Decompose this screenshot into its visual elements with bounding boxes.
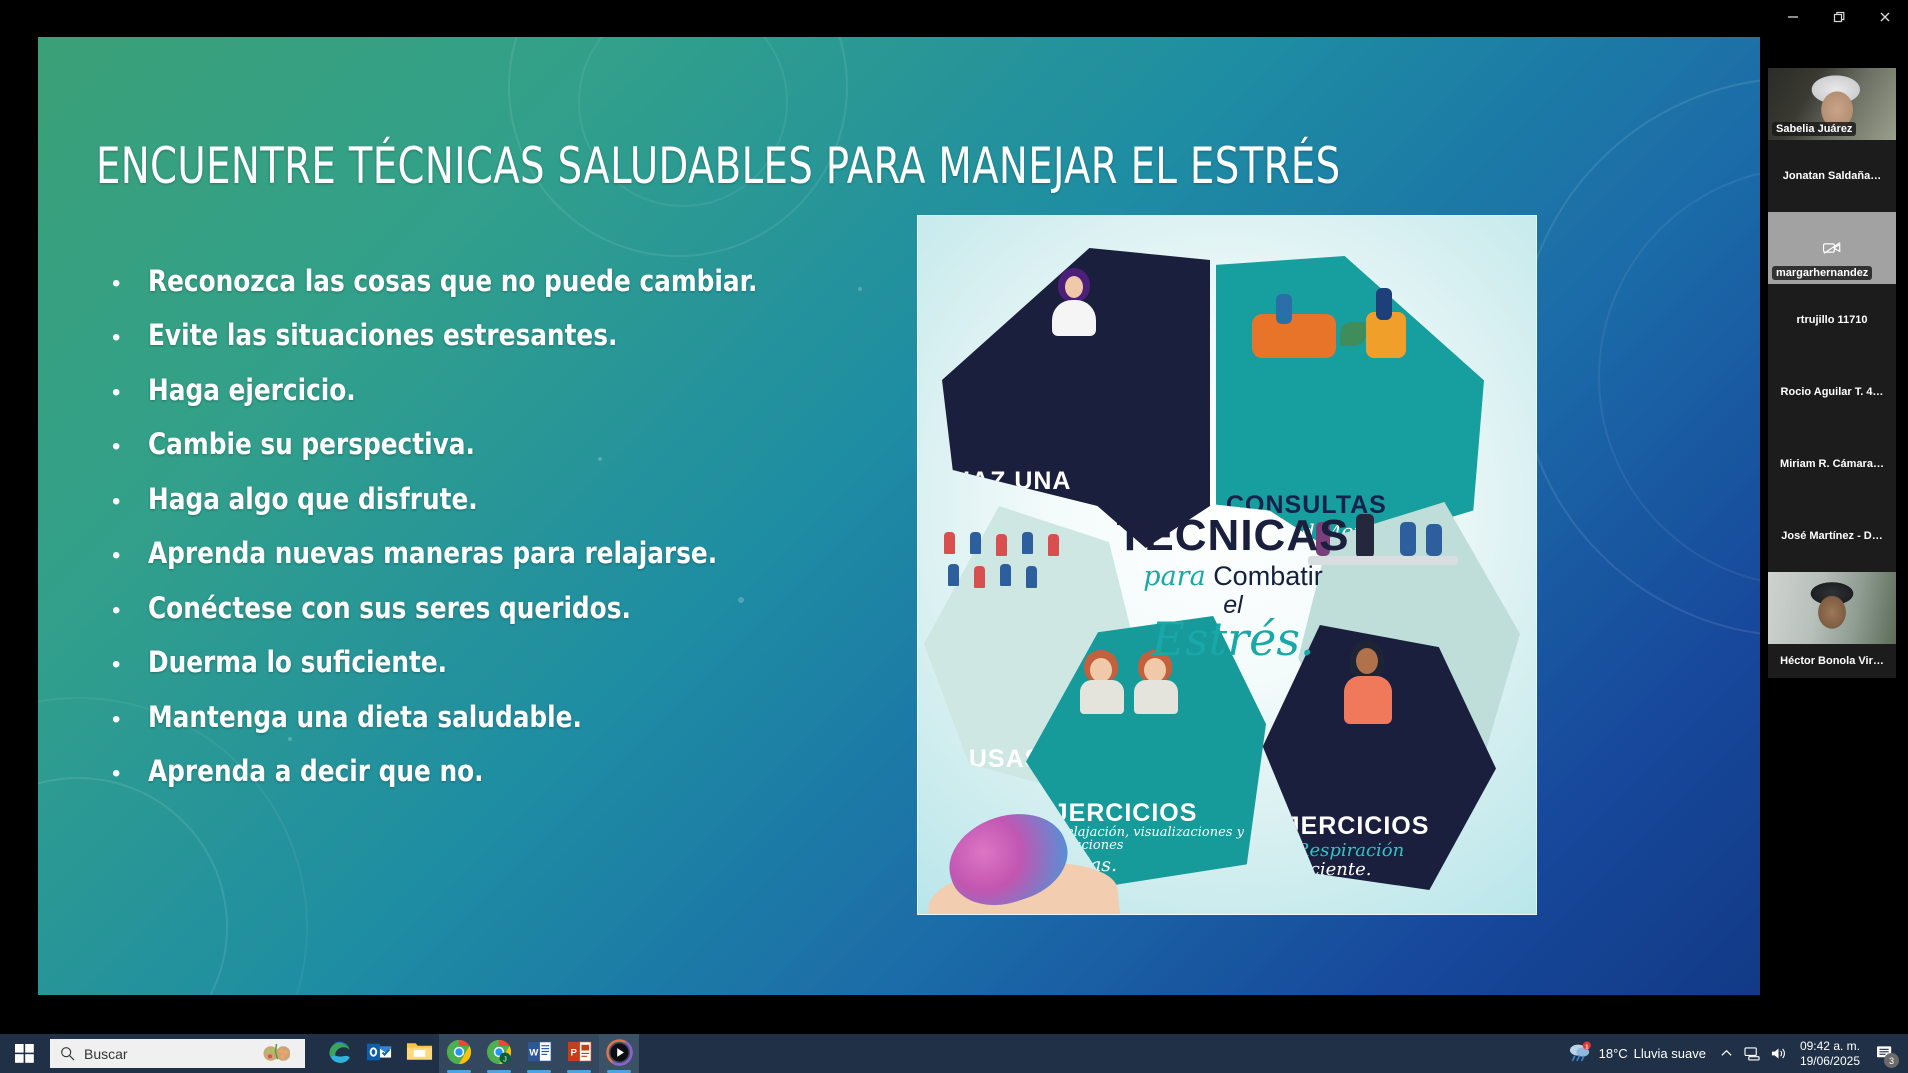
svg-text:P: P [570,1047,577,1058]
stress-techniques-infographic: HAZ UNA Meditación Corta. CONSULTAS de S… [917,215,1537,915]
start-button[interactable] [0,1034,48,1073]
participant-name: Miriam R. Cámara… [1768,458,1896,470]
bullet-marker: • [112,762,148,786]
search-icon [58,1046,76,1061]
search-placeholder: Buscar [84,1046,128,1062]
participant-rail: Sabelia Juárez Jonatan Saldaña… margarhe… [1760,34,1908,1034]
windows-logo-icon [15,1044,34,1063]
bullet-marker: • [112,272,148,296]
microsoft-word-icon[interactable]: W [519,1034,559,1073]
participant-name: Sabelia Juárez [1772,122,1856,136]
participant-list: Sabelia Juárez Jonatan Saldaña… margarhe… [1768,68,1896,966]
participant-name: Rocio Aguilar T. 4… [1768,386,1896,398]
therapy-session-illustration [1248,286,1448,366]
restore-icon [1832,10,1846,24]
microsoft-edge-icon[interactable] [319,1034,359,1073]
camera-off-icon [1823,241,1841,255]
participant-name: Héctor Bonola Vir… [1768,655,1896,667]
outlook-icon[interactable] [359,1034,399,1073]
list-item: • Haga ejercicio. [112,374,902,406]
wedge-title: HAZ UNA [952,469,1200,494]
close-icon [1878,10,1892,24]
close-button[interactable] [1862,0,1908,34]
list-item: • Aprenda nuevas maneras para relajarse. [112,537,902,569]
participant-tile[interactable]: José Martínez - D… [1768,500,1896,572]
bullet-marker: • [112,599,148,623]
list-item: • Haga algo que disfrute. [112,483,902,515]
svg-text:J: J [503,1054,507,1063]
infographic-center-text: TÉCNICAS para Combatir el Estrés. [1068,514,1398,662]
infographic-subtitle: para Combatir [1068,562,1398,591]
clock[interactable]: 09:42 a. m. 19/06/2025 [1792,1039,1868,1069]
list-item: • Cambie su perspectiva. [112,428,902,460]
weather-description: Lluvia suave [1634,1046,1706,1061]
participant-tile[interactable]: Rocio Aguilar T. 4… [1768,356,1896,428]
weather-widget[interactable]: 1 18°C Lluvia suave [1559,1041,1714,1066]
wedge-title: EJERCICIOS [1036,801,1256,826]
desktop-root: ENCUENTRE TÉCNICAS SALUDABLES PARA MANEJ… [0,0,1908,1073]
list-item-label: Mantenga una dieta saludable. [148,701,582,733]
webcam-feed [1768,572,1896,644]
infographic-keyword: Estrés. [1068,616,1398,662]
notifications-count: 3 [1884,1053,1899,1068]
shared-screen-stage: ENCUENTRE TÉCNICAS SALUDABLES PARA MANEJ… [0,34,1760,1034]
meditating-woman-illustration [1046,268,1102,352]
list-item: • Evite las situaciones estresantes. [112,319,902,351]
bullet-marker: • [112,326,148,350]
participant-tile[interactable]: Sabelia Juárez [1768,68,1896,140]
weather-temperature: 18°C [1599,1046,1628,1061]
microsoft-powerpoint-icon[interactable]: P [559,1034,599,1073]
presentation-slide[interactable]: ENCUENTRE TÉCNICAS SALUDABLES PARA MANEJ… [38,37,1760,995]
participant-name: rtrujillo 11710 [1768,314,1896,326]
chevron-up-icon[interactable] [1714,1034,1740,1073]
list-item-label: Haga ejercicio. [148,374,356,406]
volume-icon[interactable] [1766,1034,1792,1073]
chrome-profile-j-icon[interactable]: J [479,1034,519,1073]
search-input[interactable]: Buscar [50,1039,305,1068]
infographic-subtitle-script: para [1143,561,1205,592]
list-item: • Duerma lo suficiente. [112,646,902,678]
participant-video [1768,572,1896,644]
rain-cloud-icon: 1 [1567,1041,1593,1066]
participant-tile[interactable]: rtrujillo 11710 [1768,284,1896,356]
window-titlebar [0,0,1908,34]
participant-name: Jonatan Saldaña… [1768,170,1896,182]
minimize-icon [1786,10,1800,24]
participant-tile[interactable]: Jonatan Saldaña… [1768,140,1896,212]
wedge-subtitle: de Respiración [1268,842,1486,861]
participant-tile[interactable]: Miriam R. Cámara… [1768,428,1896,500]
food-widget-icon[interactable] [255,1039,297,1068]
list-item: • Reconozca las cosas que no puede cambi… [112,265,902,297]
google-chrome-icon[interactable] [439,1034,479,1073]
participant-tile[interactable]: margarhernandez [1768,212,1896,284]
network-icon[interactable] [1740,1034,1766,1073]
list-item: • Aprenda a decir que no. [112,755,902,787]
list-item-label: Haga algo que disfrute. [148,483,478,515]
wedge-subtitle: de Relajación, visualizaciones y meditac… [1036,826,1256,853]
participant-name: José Martínez - D… [1768,530,1896,542]
restore-button[interactable] [1816,0,1862,34]
bullet-marker: • [112,544,148,568]
infographic-title: TÉCNICAS [1068,514,1398,558]
taskbar: Buscar [0,1034,1908,1073]
system-tray: 1 18°C Lluvia suave [1559,1034,1908,1073]
notifications-button[interactable]: 3 [1868,1034,1902,1073]
list-item-label: Aprenda a decir que no. [148,755,484,787]
participant-name: margarhernandez [1772,266,1872,280]
media-player-icon[interactable] [599,1034,639,1073]
clock-time: 09:42 a. m. [1800,1039,1860,1054]
svg-text:W: W [529,1047,539,1058]
bullet-list: • Reconozca las cosas que no puede cambi… [112,265,902,810]
wedge-title: EJERCICIOS [1268,814,1486,839]
participant-video: Sabelia Juárez [1768,68,1896,140]
file-explorer-icon[interactable] [399,1034,439,1073]
list-item-label: Reconozca las cosas que no puede cambiar… [148,265,757,297]
wedge-caption: consciente. [1268,861,1486,880]
participant-tile[interactable]: Héctor Bonola Vir… [1768,572,1896,678]
page-title: ENCUENTRE TÉCNICAS SALUDABLES PARA MANEJ… [96,137,1300,195]
bullet-marker: • [112,708,148,732]
infographic-subtitle-rest: Combatir [1213,561,1323,591]
list-item-label: Duerma lo suficiente. [148,646,447,678]
list-item-label: Evite las situaciones estresantes. [148,319,617,351]
list-item: • Conéctese con sus seres queridos. [112,592,902,624]
list-item-label: Conéctese con sus seres queridos. [148,592,631,624]
minimize-button[interactable] [1770,0,1816,34]
list-item-label: Cambie su perspectiva. [148,428,475,460]
bullet-marker: • [112,435,148,459]
list-item-label: Aprenda nuevas maneras para relajarse. [148,537,717,569]
bullet-marker: • [112,653,148,677]
bullet-marker: • [112,490,148,514]
list-item: • Mantenga una dieta saludable. [112,701,902,733]
clock-date: 19/06/2025 [1800,1054,1860,1069]
bullet-marker: • [112,381,148,405]
